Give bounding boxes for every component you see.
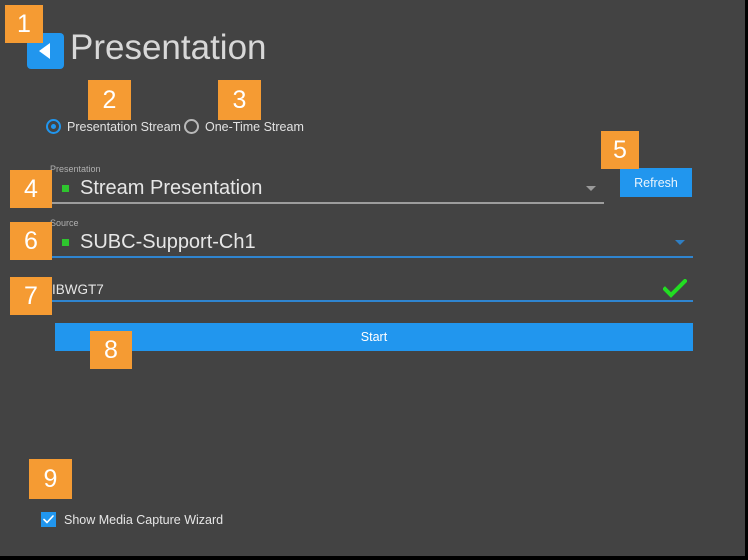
chevron-down-icon[interactable] [675,240,685,245]
refresh-button[interactable]: Refresh [620,168,692,197]
source-dropdown[interactable]: Source SUBC-Support-Ch1 [48,218,693,258]
page-title: Presentation [70,28,267,68]
presentation-dropdown-value: Stream Presentation [80,177,586,200]
annotation-badge-6: 6 [10,222,52,260]
radio-presentation-stream-label: Presentation Stream [67,120,181,134]
source-dropdown-value-row[interactable]: SUBC-Support-Ch1 [48,229,693,256]
back-arrow-icon [39,43,50,59]
presentation-dropdown[interactable]: Presentation Stream Presentation [48,164,604,204]
show-media-capture-wizard-checkbox[interactable]: Show Media Capture Wizard [41,512,223,527]
start-button[interactable]: Start [55,323,693,351]
radio-presentation-stream[interactable]: Presentation Stream [46,119,181,134]
radio-unselected-icon [184,119,199,134]
annotation-badge-1: 1 [5,5,43,43]
annotation-badge-3: 3 [218,80,261,120]
presentation-dropdown-caption: Presentation [50,164,604,175]
chevron-down-icon[interactable] [586,186,596,191]
show-media-capture-wizard-label: Show Media Capture Wizard [64,513,223,527]
presentation-dropdown-value-row[interactable]: Stream Presentation [48,175,604,202]
radio-selected-icon [46,119,61,134]
source-dropdown-caption: Source [50,218,693,229]
annotation-badge-8: 8 [90,331,132,369]
presentation-dropdown-underline [48,202,604,204]
stream-name-input-underline [48,300,693,302]
annotation-badge-4: 4 [10,170,52,208]
annotation-badge-9: 9 [29,459,72,499]
radio-one-time-stream-label: One-Time Stream [205,120,304,134]
stream-name-input[interactable]: IBWGT7 [48,278,693,302]
stream-name-input-row[interactable]: IBWGT7 [48,278,693,300]
annotation-badge-2: 2 [88,80,131,120]
green-square-icon [62,185,69,192]
source-dropdown-underline [48,256,693,258]
annotation-badge-5: 5 [601,131,639,169]
annotation-badge-7: 7 [10,277,52,315]
radio-one-time-stream[interactable]: One-Time Stream [184,119,304,134]
stream-name-input-value: IBWGT7 [52,282,663,297]
green-check-icon [663,279,687,299]
presentation-panel: Presentation Presentation Stream One-Tim… [0,0,748,560]
checkbox-checked-icon[interactable] [41,512,56,527]
green-square-icon [62,239,69,246]
source-dropdown-value: SUBC-Support-Ch1 [80,231,675,254]
